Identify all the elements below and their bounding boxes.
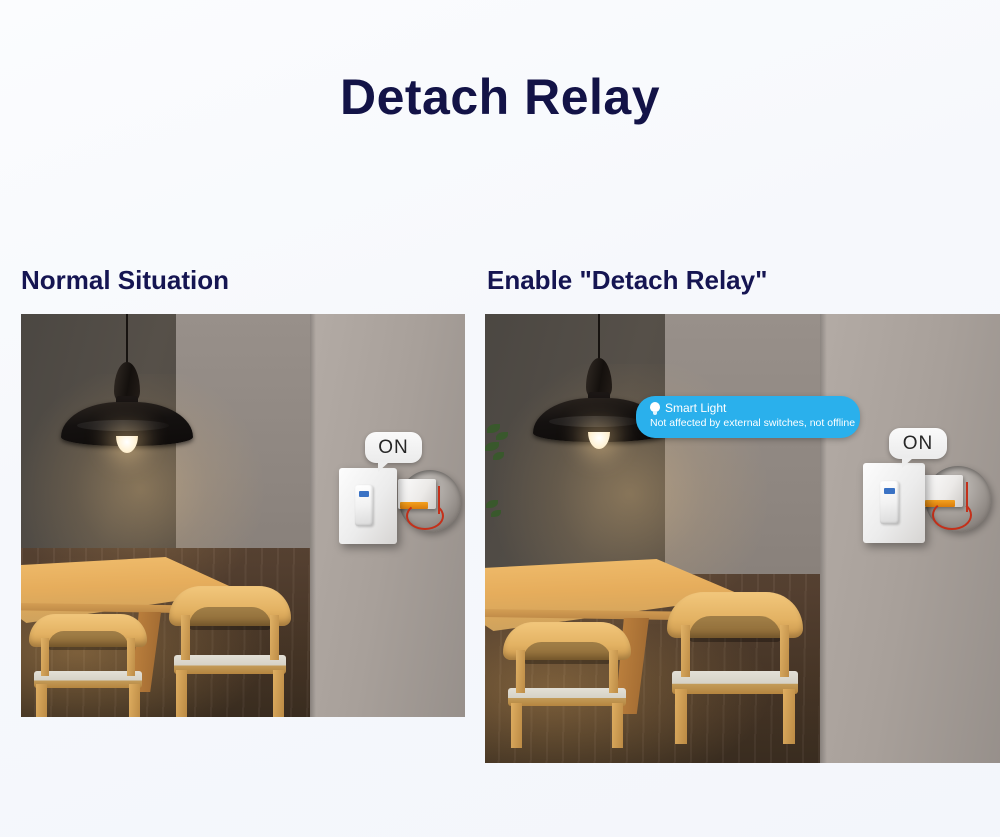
smart-light-tooltip-header: Smart Light	[650, 401, 846, 416]
chair-seat	[672, 671, 797, 694]
panel-caption-enable-detach-relay: Enable "Detach Relay"	[487, 265, 767, 296]
plant-leaf	[487, 424, 500, 433]
lamp-cord-left	[126, 314, 128, 368]
room-render-left: ON	[21, 314, 465, 717]
detach-relay-page: Detach Relay Normal Situation Enable "De…	[0, 0, 1000, 837]
plant-leaf	[496, 432, 508, 440]
chair-right-1	[503, 622, 631, 748]
on-status-label: ON	[378, 438, 409, 457]
chair-stile-right	[609, 650, 618, 693]
switch-rocker-left[interactable]	[355, 485, 372, 526]
bubble-tail-icon	[378, 462, 389, 472]
relay-wire-segment-right	[966, 482, 968, 512]
plant-leaf	[486, 500, 498, 508]
chair-left-1	[29, 614, 147, 717]
page-title: Detach Relay	[0, 68, 1000, 126]
panel-caption-normal-situation: Normal Situation	[21, 265, 229, 296]
room-render-right: ON	[485, 314, 1000, 763]
chair-seat	[174, 655, 286, 675]
houseplant-right	[485, 422, 511, 542]
chair-stile-left	[516, 650, 525, 693]
chair-left-2	[169, 586, 291, 717]
chair-seat	[508, 688, 626, 707]
chair-leg-left	[675, 689, 687, 744]
scene-detach-relay: ON	[485, 314, 1000, 763]
chair-stile-left	[681, 625, 691, 677]
chair-leg-right	[273, 670, 284, 717]
lightbulb-base	[653, 411, 657, 415]
chair-stile-right	[780, 625, 790, 677]
plant-leaf	[485, 442, 499, 451]
plant-leaf	[491, 510, 501, 517]
smart-light-tooltip-subtitle: Not affected by external switches, not o…	[650, 417, 846, 431]
chair-leg-left	[511, 703, 523, 748]
chair-right-2	[667, 592, 803, 744]
relay-wire-segment-left	[438, 486, 440, 514]
wall-switch-plate-left[interactable]	[339, 468, 397, 544]
chair-stile-left	[41, 638, 49, 675]
pendant-lamp-left	[61, 314, 193, 462]
lamp-cord-right	[598, 314, 600, 364]
chair-leg-right	[612, 703, 624, 748]
on-status-label: ON	[903, 434, 934, 453]
scene-normal-situation: ON	[21, 314, 465, 717]
pendant-lamp-right	[533, 314, 665, 458]
on-status-bubble-left: ON	[365, 432, 422, 463]
on-status-bubble-right: ON	[889, 428, 947, 459]
chair-leg-right	[783, 689, 795, 744]
lamp-bulb-left	[116, 436, 138, 453]
wall-switch-plate-right[interactable]	[863, 463, 925, 543]
chair-stile-left	[181, 615, 190, 660]
chair-stile-right	[270, 615, 279, 660]
bubble-tail-icon	[902, 458, 913, 468]
lamp-bulb-right	[588, 432, 610, 449]
switch-rocker-right[interactable]	[880, 481, 899, 524]
chair-stile-right	[127, 638, 135, 675]
smart-light-tooltip: Smart Light Not affected by external swi…	[636, 396, 860, 438]
lightbulb-icon	[650, 402, 660, 416]
smart-light-tooltip-title: Smart Light	[665, 401, 726, 416]
chair-leg-left	[176, 670, 187, 717]
plant-leaf	[493, 452, 504, 460]
chair-leg-left	[36, 684, 47, 717]
chair-leg-right	[129, 684, 140, 717]
